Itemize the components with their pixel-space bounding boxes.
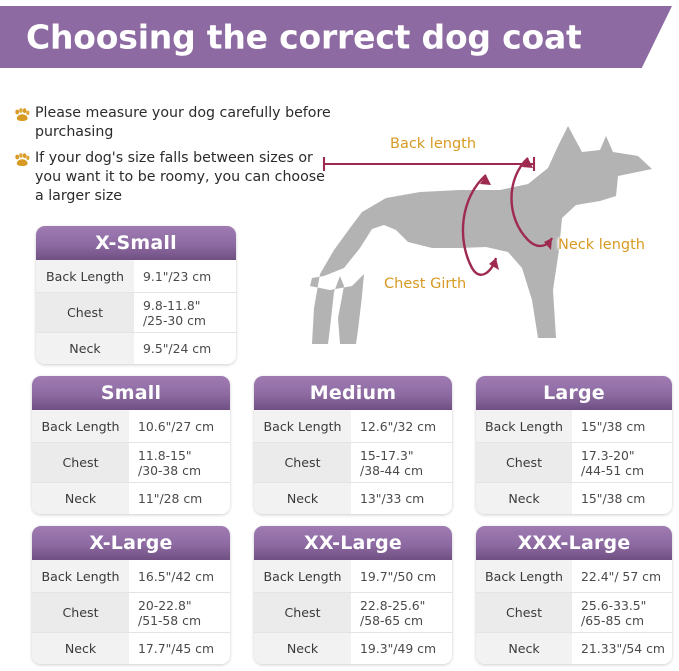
row-value: 10.6"/27 cm <box>129 410 230 442</box>
size-table-body: Back Length 19.7"/50 cm Chest 22.8-25.6"… <box>254 560 452 664</box>
row-value: 15-17.3" /38-44 cm <box>351 443 452 482</box>
row-value: 15"/38 cm <box>572 483 672 514</box>
row-value: 17.7"/45 cm <box>129 633 230 664</box>
size-table-title: Small <box>32 376 230 410</box>
size-table-medium: Medium Back Length 12.6"/32 cm Chest 15-… <box>254 376 452 514</box>
size-table-title: Large <box>476 376 672 410</box>
row-value: 9.5"/24 cm <box>134 333 236 364</box>
table-row: Neck 19.3"/49 cm <box>254 632 452 664</box>
table-row: Neck 9.5"/24 cm <box>36 332 236 364</box>
row-label: Neck <box>476 633 572 664</box>
size-table-xxx-large: XXX-Large Back Length 22.4"/ 57 cm Chest… <box>476 526 672 664</box>
header-banner: Choosing the correct dog coat <box>0 6 679 68</box>
row-value: 9.1"/23 cm <box>134 260 236 292</box>
chest-girth-label: Chest Girth <box>384 276 466 292</box>
row-value: 12.6"/32 cm <box>351 410 452 442</box>
row-value: 21.33"/54 cm <box>572 633 672 664</box>
back-length-label: Back length <box>390 136 476 152</box>
row-value: 19.3"/49 cm <box>351 633 452 664</box>
row-label: Neck <box>36 333 134 364</box>
row-label: Back Length <box>254 560 351 592</box>
row-label: Back Length <box>254 410 351 442</box>
row-value: 11"/28 cm <box>129 483 230 514</box>
instruction-item: Please measure your dog carefully before… <box>14 104 334 142</box>
size-table-title: Medium <box>254 376 452 410</box>
instruction-text: If your dog's size falls between sizes o… <box>35 149 334 206</box>
row-value: 13"/33 cm <box>351 483 452 514</box>
size-table-body: Back Length 22.4"/ 57 cm Chest 25.6-33.5… <box>476 560 672 664</box>
row-label: Chest <box>254 593 351 632</box>
table-row: Chest 25.6-33.5" /65-85 cm <box>476 592 672 632</box>
instruction-item: If your dog's size falls between sizes o… <box>14 149 334 206</box>
row-label: Chest <box>32 443 129 482</box>
row-label: Back Length <box>36 260 134 292</box>
paw-print-icon <box>14 153 30 167</box>
back-length-measure <box>324 157 534 171</box>
size-table-title: X-Small <box>36 226 236 260</box>
table-row: Chest 20-22.8" /51-58 cm <box>32 592 230 632</box>
row-label: Chest <box>476 443 572 482</box>
size-table-title: XX-Large <box>254 526 452 560</box>
dog-coat-size-chart: Choosing the correct dog coat Please mea… <box>0 0 679 671</box>
table-row: Neck 15"/38 cm <box>476 482 672 514</box>
row-label: Neck <box>476 483 572 514</box>
row-value: 15"/38 cm <box>572 410 672 442</box>
table-row: Neck 17.7"/45 cm <box>32 632 230 664</box>
table-row: Neck 21.33"/54 cm <box>476 632 672 664</box>
size-table-title: X-Large <box>32 526 230 560</box>
row-label: Back Length <box>32 410 129 442</box>
table-row: Chest 9.8-11.8" /25-30 cm <box>36 292 236 332</box>
table-row: Back Length 9.1"/23 cm <box>36 260 236 292</box>
row-label: Chest <box>254 443 351 482</box>
table-row: Chest 17.3-20" /44-51 cm <box>476 442 672 482</box>
row-label: Neck <box>32 483 129 514</box>
row-value: 17.3-20" /44-51 cm <box>572 443 672 482</box>
table-row: Neck 11"/28 cm <box>32 482 230 514</box>
row-label: Chest <box>36 293 134 332</box>
row-value: 25.6-33.5" /65-85 cm <box>572 593 672 632</box>
row-label: Back Length <box>476 560 572 592</box>
page-title: Choosing the correct dog coat <box>26 18 582 57</box>
row-value: 22.4"/ 57 cm <box>572 560 672 592</box>
row-label: Chest <box>476 593 572 632</box>
row-label: Back Length <box>32 560 129 592</box>
size-table-x-large: X-Large Back Length 16.5"/42 cm Chest 20… <box>32 526 230 664</box>
table-row: Back Length 10.6"/27 cm <box>32 410 230 442</box>
table-row: Chest 11.8-15" /30-38 cm <box>32 442 230 482</box>
size-table-body: Back Length 12.6"/32 cm Chest 15-17.3" /… <box>254 410 452 514</box>
row-label: Neck <box>32 633 129 664</box>
row-value: 22.8-25.6" /58-65 cm <box>351 593 452 632</box>
row-value: 20-22.8" /51-58 cm <box>129 593 230 632</box>
size-table-body: Back Length 10.6"/27 cm Chest 11.8-15" /… <box>32 410 230 514</box>
table-row: Back Length 15"/38 cm <box>476 410 672 442</box>
instruction-text: Please measure your dog carefully before… <box>35 104 334 142</box>
neck-length-label: Neck length <box>558 237 645 253</box>
dog-silhouette-icon <box>300 100 679 352</box>
row-value: 11.8-15" /30-38 cm <box>129 443 230 482</box>
size-table-body: Back Length 16.5"/42 cm Chest 20-22.8" /… <box>32 560 230 664</box>
row-label: Neck <box>254 633 351 664</box>
row-value: 9.8-11.8" /25-30 cm <box>134 293 236 332</box>
paw-print-icon <box>14 108 30 122</box>
row-label: Back Length <box>476 410 572 442</box>
table-row: Back Length 12.6"/32 cm <box>254 410 452 442</box>
row-label: Neck <box>254 483 351 514</box>
table-row: Chest 15-17.3" /38-44 cm <box>254 442 452 482</box>
size-table-title: XXX-Large <box>476 526 672 560</box>
row-label: Chest <box>32 593 129 632</box>
instructions-list: Please measure your dog carefully before… <box>14 104 334 213</box>
table-row: Back Length 19.7"/50 cm <box>254 560 452 592</box>
size-table-body: Back Length 15"/38 cm Chest 17.3-20" /44… <box>476 410 672 514</box>
row-value: 19.7"/50 cm <box>351 560 452 592</box>
size-table-xx-large: XX-Large Back Length 19.7"/50 cm Chest 2… <box>254 526 452 664</box>
table-row: Back Length 22.4"/ 57 cm <box>476 560 672 592</box>
table-row: Chest 22.8-25.6" /58-65 cm <box>254 592 452 632</box>
row-value: 16.5"/42 cm <box>129 560 230 592</box>
size-table-large: Large Back Length 15"/38 cm Chest 17.3-2… <box>476 376 672 514</box>
table-row: Neck 13"/33 cm <box>254 482 452 514</box>
size-table-x-small: X-Small Back Length 9.1"/23 cm Chest 9.8… <box>36 226 236 364</box>
size-table-small: Small Back Length 10.6"/27 cm Chest 11.8… <box>32 376 230 514</box>
table-row: Back Length 16.5"/42 cm <box>32 560 230 592</box>
size-table-body: Back Length 9.1"/23 cm Chest 9.8-11.8" /… <box>36 260 236 364</box>
dog-measurement-diagram: Back length Neck length Chest Girth <box>300 100 679 352</box>
